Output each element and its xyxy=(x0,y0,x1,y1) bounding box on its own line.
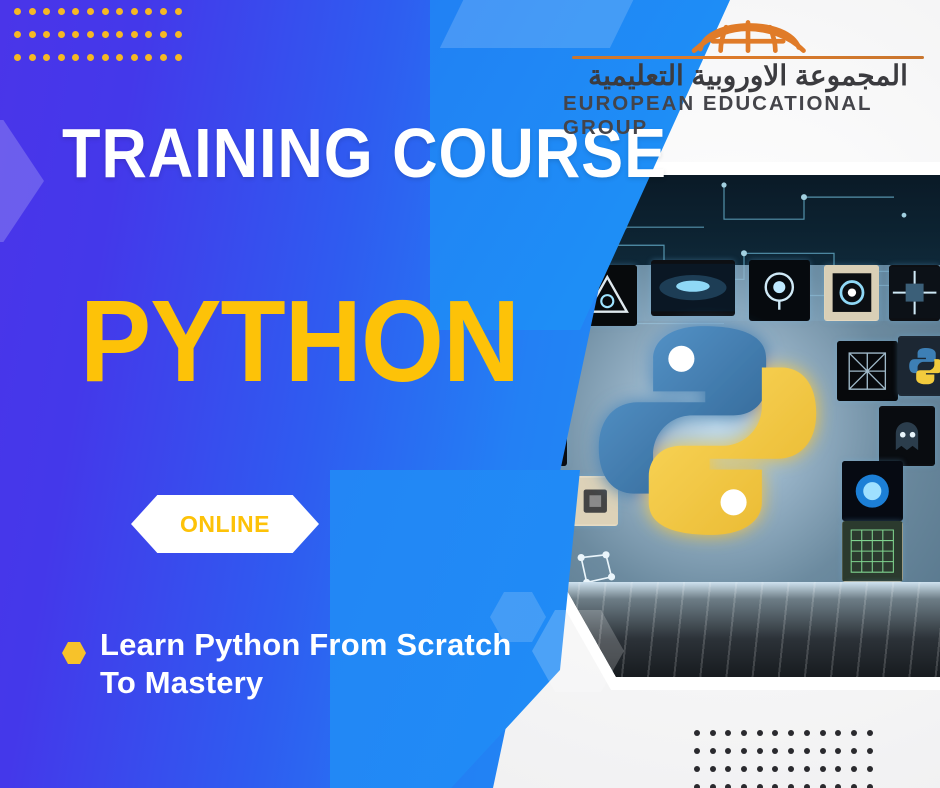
image-tile-mesh xyxy=(842,521,903,581)
logo-arabic-name: المجموعة الاوروبية التعليمية xyxy=(588,60,908,92)
dot xyxy=(710,730,716,736)
dot xyxy=(788,766,794,772)
dot xyxy=(145,31,152,38)
dot xyxy=(87,54,94,61)
dot xyxy=(175,31,182,38)
dot xyxy=(58,31,65,38)
dot xyxy=(710,766,716,772)
dot xyxy=(757,766,763,772)
dot xyxy=(725,748,731,754)
dot xyxy=(694,748,700,754)
dot xyxy=(725,766,731,772)
dot xyxy=(145,54,152,61)
dot xyxy=(29,8,36,15)
dot xyxy=(14,8,21,15)
status-badge: ONLINE xyxy=(131,495,319,553)
dot xyxy=(710,748,716,754)
image-tile-wireframe xyxy=(837,341,898,401)
dot xyxy=(741,730,747,736)
dot xyxy=(851,748,857,754)
dot xyxy=(72,31,79,38)
dot xyxy=(820,784,826,788)
dot xyxy=(835,748,841,754)
dot xyxy=(102,8,109,15)
dot xyxy=(694,766,700,772)
dot xyxy=(835,766,841,772)
dot xyxy=(14,31,21,38)
dot xyxy=(820,730,826,736)
dot xyxy=(694,730,700,736)
dot xyxy=(788,784,794,788)
logo-divider xyxy=(572,56,924,58)
dot xyxy=(741,766,747,772)
dot xyxy=(725,784,731,788)
dot xyxy=(131,8,138,15)
dot xyxy=(175,8,182,15)
dot xyxy=(145,8,152,15)
dot xyxy=(804,730,810,736)
dot xyxy=(14,54,21,61)
dot xyxy=(851,766,857,772)
dot xyxy=(102,54,109,61)
dot xyxy=(867,748,873,754)
image-tile-ghost xyxy=(879,406,935,466)
dot-grid-bottom-right xyxy=(694,730,882,788)
dot xyxy=(804,784,810,788)
dot xyxy=(116,8,123,15)
dot xyxy=(72,54,79,61)
dot xyxy=(757,748,763,754)
python-logo-icon xyxy=(577,295,838,566)
arch-bridge-icon xyxy=(673,10,823,58)
dot xyxy=(160,8,167,15)
dot xyxy=(820,748,826,754)
dot xyxy=(725,730,731,736)
dot xyxy=(757,730,763,736)
dot xyxy=(29,54,36,61)
dot xyxy=(131,31,138,38)
dot xyxy=(116,31,123,38)
dot xyxy=(710,784,716,788)
brand-logo: المجموعة الاوروبية التعليمية EUROPEAN ED… xyxy=(563,10,933,140)
dot xyxy=(131,54,138,61)
dot xyxy=(87,8,94,15)
dot xyxy=(851,784,857,788)
dot-grid-top-left xyxy=(14,8,189,77)
dot xyxy=(43,54,50,61)
dot xyxy=(804,766,810,772)
dot xyxy=(772,784,778,788)
hexagon-bullet-icon xyxy=(62,642,86,664)
dot xyxy=(694,784,700,788)
dot xyxy=(867,784,873,788)
image-tile-python-mini xyxy=(898,336,940,396)
dot xyxy=(116,54,123,61)
dot xyxy=(741,784,747,788)
dot xyxy=(820,766,826,772)
dot xyxy=(160,54,167,61)
dot xyxy=(160,31,167,38)
dot xyxy=(772,766,778,772)
course-subject: PYTHON xyxy=(80,283,519,399)
dot xyxy=(835,730,841,736)
dot xyxy=(741,748,747,754)
tagline-text: Learn Python From Scratch To Mastery xyxy=(100,626,550,702)
dot xyxy=(757,784,763,788)
poster-canvas: TRAINING COURSE PYTHON ONLINE Learn Pyth… xyxy=(0,0,940,788)
dot xyxy=(867,730,873,736)
dot xyxy=(867,766,873,772)
dot xyxy=(29,31,36,38)
image-tile-glow-orb xyxy=(842,461,903,521)
tagline-row: Learn Python From Scratch To Mastery xyxy=(62,626,550,702)
dot xyxy=(43,8,50,15)
image-tile-chip xyxy=(889,265,940,320)
dot xyxy=(175,54,182,61)
dot xyxy=(87,31,94,38)
dot xyxy=(788,730,794,736)
dot xyxy=(851,730,857,736)
dot xyxy=(788,748,794,754)
dot xyxy=(772,730,778,736)
dot xyxy=(804,748,810,754)
dot xyxy=(58,8,65,15)
dot xyxy=(43,31,50,38)
dot xyxy=(835,784,841,788)
dot xyxy=(772,748,778,754)
dot xyxy=(58,54,65,61)
logo-english-name: EUROPEAN EDUCATIONAL GROUP xyxy=(563,92,933,140)
dot xyxy=(72,8,79,15)
dot xyxy=(102,31,109,38)
status-badge-label: ONLINE xyxy=(180,511,270,538)
